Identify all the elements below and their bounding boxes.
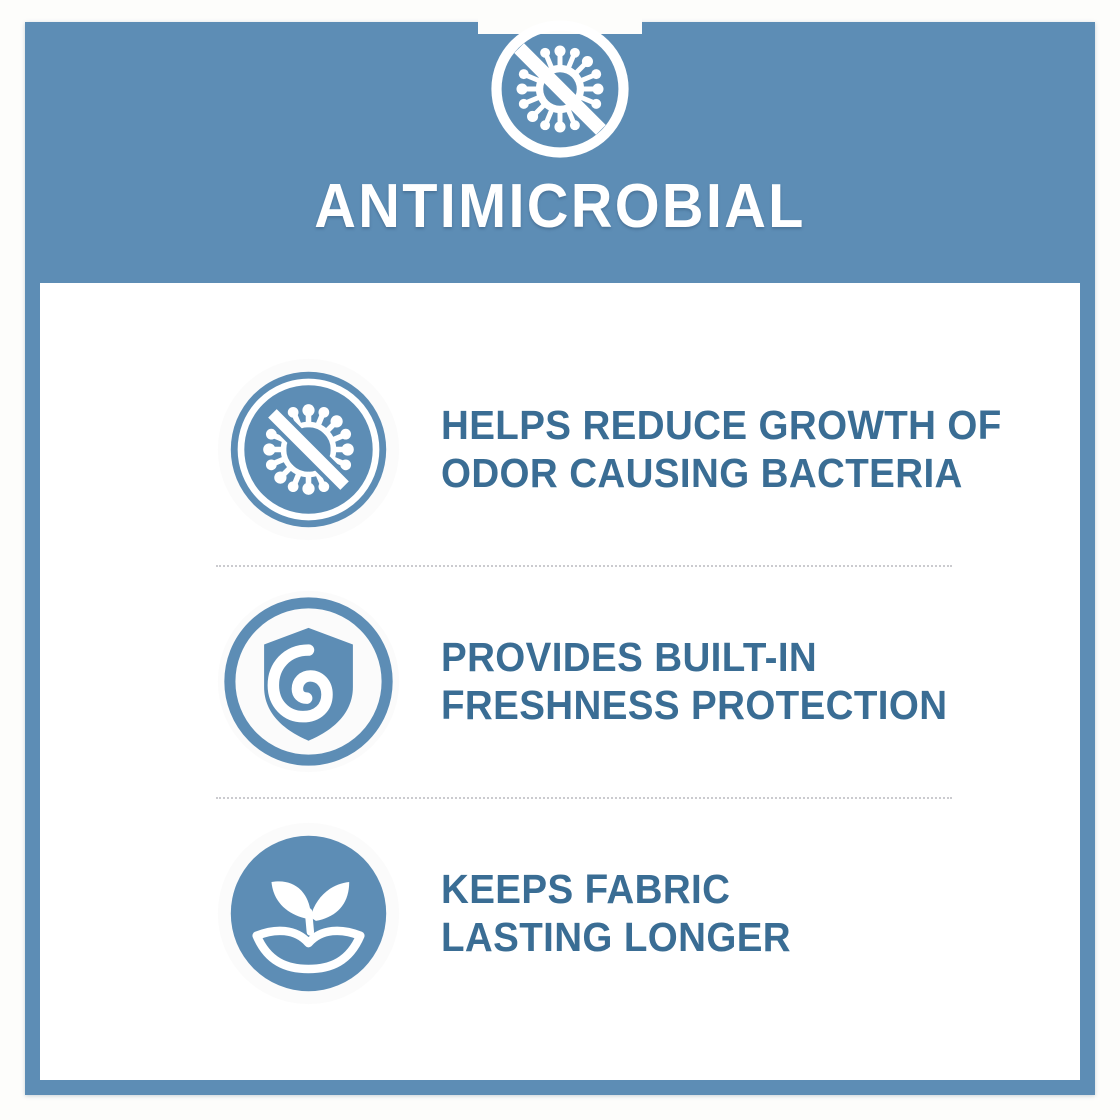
no-germ-icon [216, 357, 401, 542]
feature-label: KEEPS FABRIC LASTING LONGER [441, 866, 791, 962]
no-germ-icon [487, 16, 633, 162]
shield-swirl-icon [216, 589, 401, 774]
feature-label: HELPS REDUCE GROWTH OF ODOR CAUSING BACT… [441, 402, 1002, 498]
sprout-leaf-icon [216, 821, 401, 1006]
feature-label: PROVIDES BUILT-IN FRESHNESS PROTECTION [441, 634, 947, 730]
feature-divider [216, 797, 952, 799]
feature-list: HELPS REDUCE GROWTH OF ODOR CAUSING BACT… [40, 283, 1080, 1080]
feature-row-freshness: PROVIDES BUILT-IN FRESHNESS PROTECTION [40, 567, 1080, 797]
feature-row-fabric: KEEPS FABRIC LASTING LONGER [40, 799, 1080, 1029]
feature-row-bacteria: HELPS REDUCE GROWTH OF ODOR CAUSING BACT… [40, 335, 1080, 565]
page-title: ANTIMICROBIAL [62, 176, 1057, 238]
infographic-canvas: ANTIMICROBIAL [0, 0, 1120, 1120]
feature-divider [216, 565, 952, 567]
